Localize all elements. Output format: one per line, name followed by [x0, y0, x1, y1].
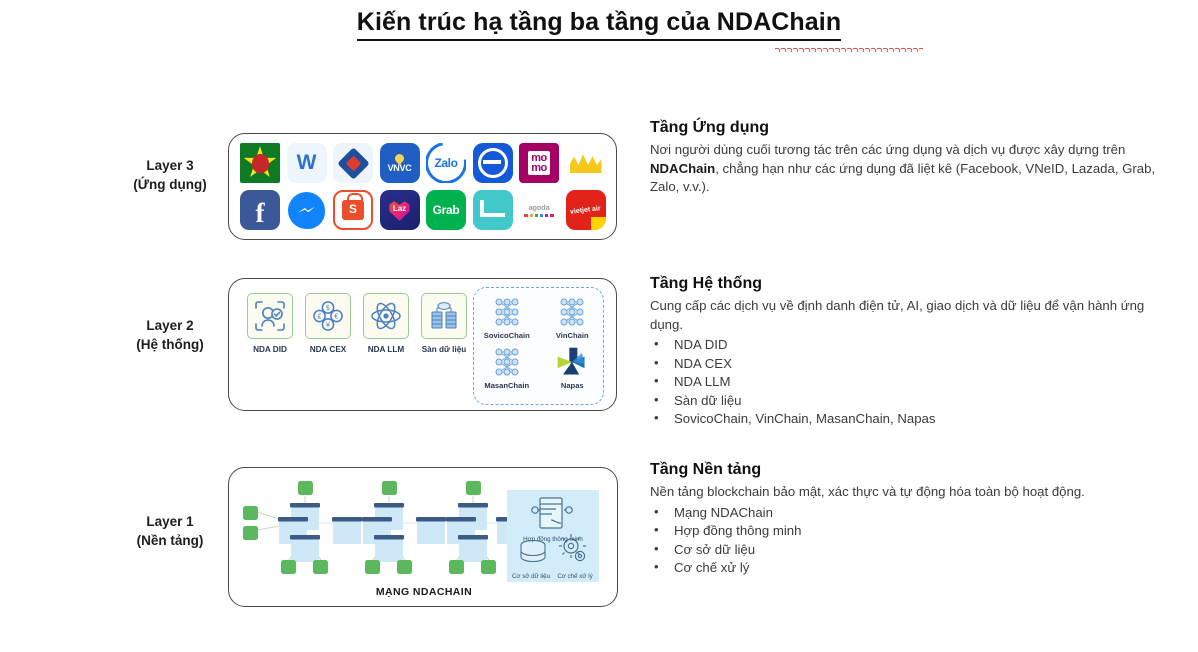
napas-logo-icon — [552, 345, 592, 379]
service-nda-cex[interactable]: $£ €¥ NDA CEX — [299, 293, 357, 354]
vietnamworks-icon[interactable]: W — [287, 143, 327, 183]
service-nda-llm[interactable]: NDA LLM — [357, 293, 415, 354]
network-nodes-icon — [487, 295, 527, 329]
list-item: Sàn dữ liệu — [650, 392, 1170, 411]
service-caption: NDA DID — [253, 345, 287, 354]
layer-3-sub: (Ứng dụng) — [118, 175, 222, 194]
engine-label: Cơ chế xử lý — [529, 573, 621, 580]
layer-1-name: Layer 1 — [118, 512, 222, 531]
data-server-icon — [421, 293, 467, 339]
layer-3-name: Layer 3 — [118, 156, 222, 175]
layer-3-label: Layer 3 (Ứng dụng) — [118, 156, 222, 194]
list-item: Hợp đồng thông minh — [650, 522, 1170, 541]
grab-icon[interactable]: Grab — [426, 190, 466, 230]
list-item: Cơ sở dữ liệu — [650, 541, 1170, 560]
etax-icon[interactable] — [473, 143, 513, 183]
momo-label: momo — [528, 151, 550, 175]
shopping-bag-shape — [342, 200, 364, 220]
agoda-label: agoda — [528, 203, 549, 212]
app-icon-grid: W VNVC Zalo momo — [240, 143, 606, 230]
shopee-icon[interactable] — [333, 190, 373, 230]
bolt-shape — [298, 205, 315, 215]
vnvc-icon[interactable]: VNVC — [380, 143, 420, 183]
layer-3-paragraph: Nơi người dùng cuối tương tác trên các ứ… — [650, 141, 1170, 197]
lazada-icon[interactable]: Laz — [380, 190, 420, 230]
layer-1-heading: Tầng Nền tảng — [650, 460, 1170, 480]
network-nodes-icon — [487, 345, 527, 379]
chain-name: SovicoChain — [484, 331, 530, 340]
layer-3-text: Tầng Ứng dụng Nơi người dùng cuối tương … — [650, 118, 1170, 197]
l3-para-a: Nơi người dùng cuối tương tác trên các ứ… — [650, 142, 1125, 157]
vinid-icon[interactable] — [473, 190, 513, 230]
chain-masanchain[interactable]: MasanChain — [474, 345, 540, 390]
service-san-du-lieu[interactable]: Sàn dữ liệu — [415, 293, 473, 354]
vietjet-label: vietjet air — [570, 205, 601, 216]
service-nda-did[interactable]: NDA DID — [241, 293, 299, 354]
page-title: Kiến trúc hạ tầng ba tầng của NDAChain — [357, 8, 841, 41]
layer-1-sub: (Nền tảng) — [118, 531, 222, 550]
atom-icon — [363, 293, 409, 339]
list-item: Cơ chế xử lý — [650, 559, 1170, 578]
layer-1-label: Layer 1 (Nền tảng) — [118, 512, 222, 550]
vietjet-icon[interactable]: vietjet air — [566, 190, 606, 230]
list-item: NDA CEX — [650, 355, 1170, 374]
layer-2-panel: NDA DID $£ €¥ NDA CEX — [228, 278, 617, 411]
check-shape — [480, 200, 505, 217]
network-caption: MẠNG NDACHAIN — [229, 586, 619, 598]
svg-text:£: £ — [317, 313, 321, 321]
heart-shape: Laz — [388, 199, 412, 221]
agoda-icon[interactable]: agoda — [519, 190, 559, 230]
layer-2-paragraph: Cung cấp các dịch vụ về định danh điện t… — [650, 297, 1170, 334]
layer-1-paragraph: Nền tảng blockchain bảo mật, xác thực và… — [650, 483, 1170, 502]
facebook-icon[interactable]: f — [240, 190, 280, 230]
svg-text:¥: ¥ — [326, 321, 331, 329]
list-item: NDA DID — [650, 336, 1170, 355]
list-item: SovicoChain, VinChain, MasanChain, Napas — [650, 410, 1170, 429]
coins-icon: $£ €¥ — [305, 293, 351, 339]
layer-3-heading: Tầng Ứng dụng — [650, 118, 1170, 138]
emblem-shape — [252, 154, 269, 173]
agoda-dots — [524, 214, 553, 218]
chain-name: MasanChain — [484, 381, 529, 390]
lazada-label: Laz — [393, 204, 406, 213]
layer-1-text: Tầng Nền tảng Nền tảng blockchain bảo mậ… — [650, 460, 1170, 578]
w-glyph: W — [297, 151, 317, 175]
l3-para-b: , chẳng hạn như các ứng dụng đã liệt kê … — [650, 161, 1155, 195]
layer-1-panel: Hợp đồng thông minh Cơ sở dữ liệu Cơ chế… — [228, 467, 618, 607]
sunshine-icon[interactable] — [566, 143, 606, 183]
list-item: Mạng NDAChain — [650, 504, 1170, 523]
zalo-icon[interactable]: Zalo — [426, 143, 466, 183]
service-caption: Sàn dữ liệu — [422, 345, 467, 354]
smart-contract-panel: Hợp đồng thông minh Cơ sở dữ liệu Cơ chế… — [507, 490, 599, 582]
spellcheck-squiggle-icon — [775, 46, 923, 52]
yellow-corner-shape — [591, 217, 606, 230]
vnpt-diamond-icon[interactable] — [333, 143, 373, 183]
layer-2-text: Tầng Hệ thống Cung cấp các dịch vụ về đị… — [650, 274, 1170, 429]
svg-text:€: € — [334, 313, 338, 321]
chain-vinchain[interactable]: VinChain — [540, 295, 606, 340]
page-title-wrap: Kiến trúc hạ tầng ba tầng của NDAChain — [0, 8, 1198, 41]
chain-grid: SovicoChain VinChain — [474, 295, 605, 390]
svg-text:$: $ — [326, 304, 330, 312]
layer-2-sub: (Hệ thống) — [118, 335, 222, 354]
e-glyph — [478, 148, 508, 178]
face-id-icon — [247, 293, 293, 339]
layer-1-bullets: Mạng NDAChain Hợp đồng thông minh Cơ sở … — [650, 504, 1170, 578]
facebook-f-glyph: f — [256, 200, 265, 227]
chain-napas[interactable]: Napas — [540, 345, 606, 390]
sunburst-shape — [570, 153, 602, 173]
momo-icon[interactable]: momo — [519, 143, 559, 183]
network-nodes-icon — [552, 295, 592, 329]
layer-2-heading: Tầng Hệ thống — [650, 274, 1170, 294]
chain-sovicochain[interactable]: SovicoChain — [474, 295, 540, 340]
chain-name: Napas — [561, 381, 584, 390]
smart-contract-label: Hợp đồng thông minh — [507, 536, 599, 543]
zalo-ring — [426, 143, 466, 183]
partner-chains-group: SovicoChain VinChain — [473, 287, 604, 405]
layer-2-label: Layer 2 (Hệ thống) — [118, 316, 222, 354]
layer-2-name: Layer 2 — [118, 316, 222, 335]
message-bubble-shape — [288, 192, 325, 229]
layer-3-panel: W VNVC Zalo momo — [228, 133, 617, 240]
chain-name: VinChain — [556, 331, 589, 340]
messenger-icon[interactable] — [287, 190, 327, 230]
layer-2-bullets: NDA DID NDA CEX NDA LLM Sàn dữ liệu Sovi… — [650, 336, 1170, 429]
grab-label: Grab — [433, 203, 460, 217]
list-item: NDA LLM — [650, 373, 1170, 392]
service-caption: NDA CEX — [310, 345, 347, 354]
vneid-icon[interactable] — [240, 143, 280, 183]
service-caption: NDA LLM — [368, 345, 405, 354]
l3-para-bold: NDAChain — [650, 161, 715, 176]
